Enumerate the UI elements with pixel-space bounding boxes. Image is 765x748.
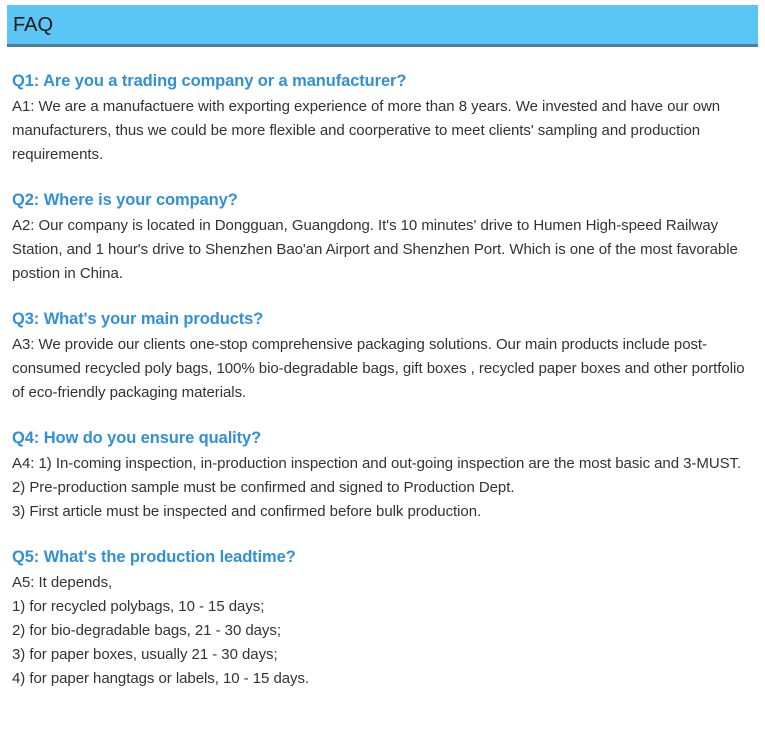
faq-answer: A2: Our company is located in Dongguan, …: [12, 214, 752, 286]
faq-answer-line: 3) for paper boxes, usually 21 - 30 days…: [12, 643, 752, 667]
faq-question: Q5: What's the production leadtime?: [12, 546, 752, 568]
faq-answer-line: 2) Pre-production sample must be confirm…: [12, 476, 752, 500]
faq-answer: A3: We provide our clients one-stop comp…: [12, 333, 752, 405]
faq-answer-line: A5: It depends,: [12, 571, 752, 595]
faq-answer: A1: We are a manufactuere with exporting…: [12, 95, 752, 167]
faq-answer: A5: It depends, 1) for recycled polybags…: [12, 571, 752, 691]
faq-item: Q2: Where is your company? A2: Our compa…: [12, 189, 752, 286]
faq-item: Q5: What's the production leadtime? A5: …: [12, 546, 752, 691]
faq-question: Q3: What's your main products?: [12, 308, 752, 330]
faq-answer-line: 3) First article must be inspected and c…: [12, 500, 752, 524]
faq-item: Q1: Are you a trading company or a manuf…: [12, 70, 752, 167]
faq-answer-line: 1) for recycled polybags, 10 - 15 days;: [12, 595, 752, 619]
faq-answer-line: A4: 1) In-coming inspection, in-producti…: [12, 452, 752, 476]
faq-item: Q4: How do you ensure quality? A4: 1) In…: [12, 427, 752, 524]
faq-question: Q2: Where is your company?: [12, 189, 752, 211]
faq-page: FAQ Q1: Are you a trading company or a m…: [0, 0, 765, 748]
faq-question: Q4: How do you ensure quality?: [12, 427, 752, 449]
page-title: FAQ: [13, 11, 53, 39]
faq-answer-line: 2) for bio-degradable bags, 21 - 30 days…: [12, 619, 752, 643]
faq-answer-line: 4) for paper hangtags or labels, 10 - 15…: [12, 667, 752, 691]
faq-question: Q1: Are you a trading company or a manuf…: [12, 70, 752, 92]
faq-item: Q3: What's your main products? A3: We pr…: [12, 308, 752, 405]
faq-header-bar: FAQ: [7, 5, 758, 47]
faq-list: Q1: Are you a trading company or a manuf…: [12, 70, 752, 691]
faq-answer: A4: 1) In-coming inspection, in-producti…: [12, 452, 752, 524]
